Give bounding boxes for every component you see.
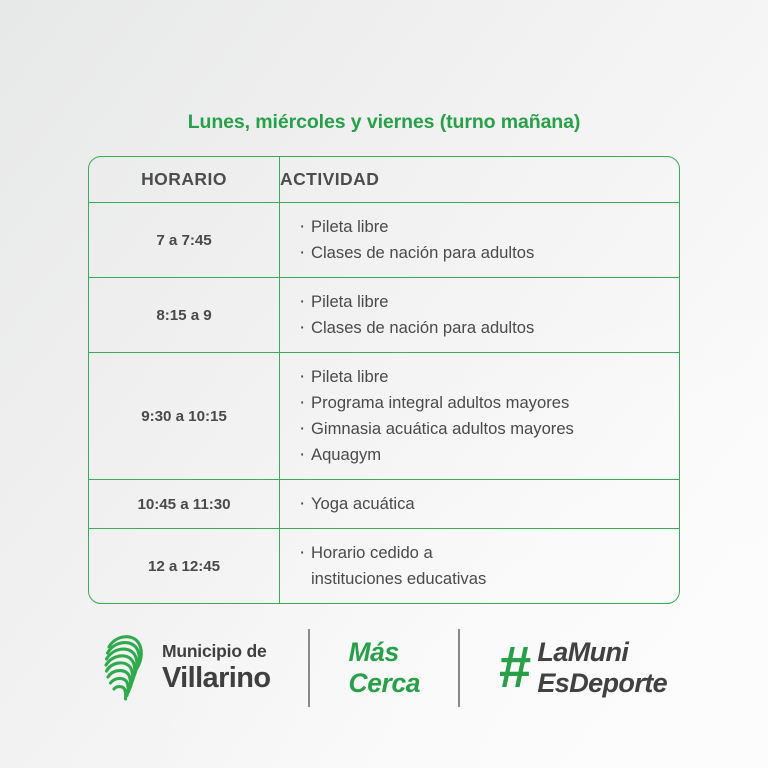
table-row: 9:30 a 10:15Pileta librePrograma integra… (89, 353, 679, 480)
cell-horario: 12 a 12:45 (89, 529, 280, 603)
brand-divider-1 (308, 629, 310, 707)
cell-actividad: Horario cedido a instituciones educativa… (280, 529, 679, 603)
cell-actividad: Pileta libreClases de nación para adulto… (280, 278, 679, 353)
municipality-logo: Municipio de Villarino (101, 629, 271, 707)
activity-list: Pileta librePrograma integral adultos ma… (298, 364, 669, 468)
schedule-table-container: HORARIO ACTIVIDAD 7 a 7:45Pileta libreCl… (88, 156, 680, 604)
activity-list: Horario cedido a instituciones educativa… (298, 540, 669, 592)
cell-horario: 9:30 a 10:15 (89, 353, 280, 480)
activity-item: Pileta libre (298, 214, 669, 240)
activity-list: Pileta libreClases de nación para adulto… (298, 214, 669, 266)
activity-item: Pileta libre (298, 289, 669, 315)
activity-item: Yoga acuática (298, 491, 669, 517)
table-header-row: HORARIO ACTIVIDAD (89, 157, 679, 203)
flyer-canvas: Lunes, miércoles y viernes (turno mañana… (0, 0, 768, 768)
villarino-fingerprint-map-icon (101, 629, 151, 707)
activity-list: Yoga acuática (298, 491, 669, 517)
brand-divider-2 (458, 629, 460, 707)
footer-brand-bar: Municipio de Villarino Más Cerca # LaMun… (0, 620, 768, 716)
slogan-line1: Más (348, 637, 420, 668)
hashtag-line1: LaMuni (537, 637, 667, 668)
brand-row: Municipio de Villarino Más Cerca # LaMun… (101, 620, 667, 716)
municipality-line2: Villarino (162, 664, 271, 693)
cell-horario: 7 a 7:45 (89, 203, 280, 278)
activity-item: Aquagym (298, 442, 669, 468)
activity-item: Pileta libre (298, 364, 669, 390)
column-header-actividad: ACTIVIDAD (280, 157, 679, 203)
municipality-line1: Municipio de (162, 643, 271, 661)
table-row: 10:45 a 11:30Yoga acuática (89, 480, 679, 529)
cell-actividad: Yoga acuática (280, 480, 679, 529)
cell-horario: 10:45 a 11:30 (89, 480, 280, 529)
activity-item: Clases de nación para adultos (298, 315, 669, 341)
table-row: 8:15 a 9Pileta libreClases de nación par… (89, 278, 679, 353)
hashtag-words: LaMuni EsDeporte (537, 637, 667, 699)
cell-horario: 8:15 a 9 (89, 278, 280, 353)
schedule-table: HORARIO ACTIVIDAD 7 a 7:45Pileta libreCl… (88, 156, 680, 604)
activity-item: Programa integral adultos mayores (298, 390, 669, 416)
column-header-horario: HORARIO (89, 157, 280, 203)
cell-actividad: Pileta libreClases de nación para adulto… (280, 203, 679, 278)
table-body: 7 a 7:45Pileta libreClases de nación par… (89, 203, 679, 603)
activity-item: Gimnasia acuática adultos mayores (298, 416, 669, 442)
table-row: 7 a 7:45Pileta libreClases de nación par… (89, 203, 679, 278)
activity-list: Pileta libreClases de nación para adulto… (298, 289, 669, 341)
cell-actividad: Pileta librePrograma integral adultos ma… (280, 353, 679, 480)
municipality-wordmark: Municipio de Villarino (162, 643, 271, 693)
slogan-mas-cerca: Más Cerca (348, 637, 420, 699)
table-head: HORARIO ACTIVIDAD (89, 157, 679, 203)
table-row: 12 a 12:45Horario cedido a instituciones… (89, 529, 679, 603)
activity-item: Horario cedido a instituciones educativa… (298, 540, 669, 592)
activity-item: Clases de nación para adultos (298, 240, 669, 266)
hash-symbol-icon: # (498, 639, 528, 697)
hashtag-lockup: # LaMuni EsDeporte (498, 637, 667, 699)
page-title: Lunes, miércoles y viernes (turno mañana… (188, 111, 581, 134)
slogan-line2: Cerca (348, 668, 420, 699)
hashtag-line2: EsDeporte (537, 668, 667, 699)
